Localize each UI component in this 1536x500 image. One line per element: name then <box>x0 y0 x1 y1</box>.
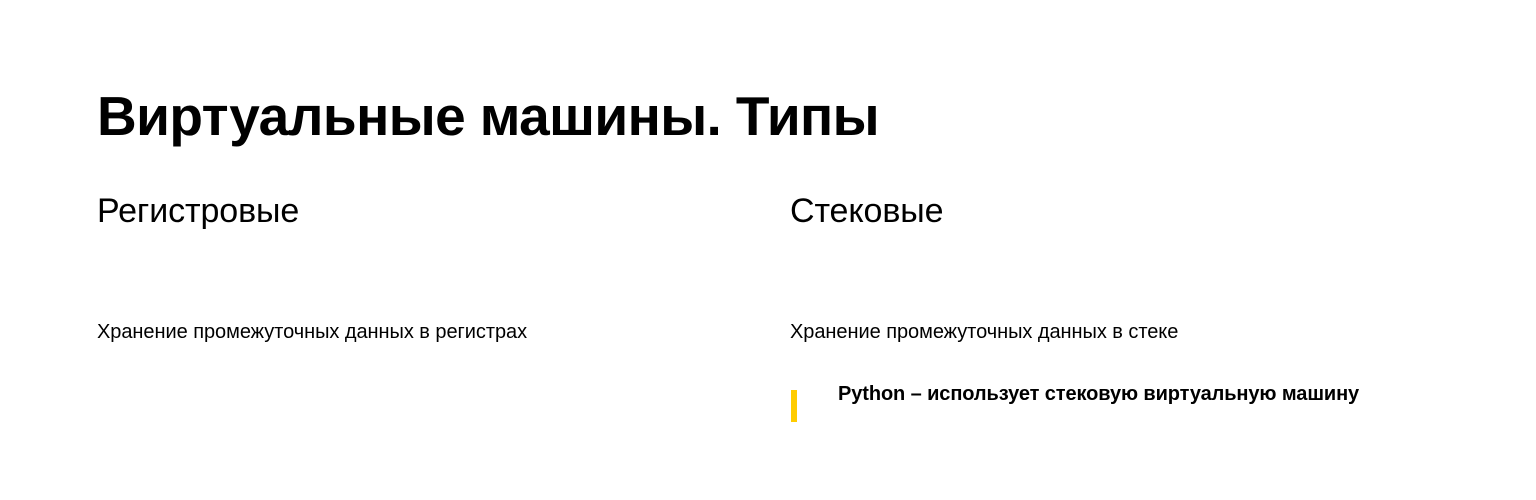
callout-python: Python – использует стековую виртуальную… <box>790 379 1450 409</box>
column-body-registers: Хранение промежуточных данных в регистра… <box>97 318 527 346</box>
column-registers: Регистровые Хранение промежуточных данны… <box>97 190 737 232</box>
accent-bar-icon <box>791 390 797 422</box>
callout-text-python: Python – использует стековую виртуальную… <box>790 379 1450 409</box>
column-heading-stack: Стековые <box>790 190 1450 232</box>
column-stack: Стековые Хранение промежуточных данных в… <box>790 190 1450 232</box>
column-body-stack: Хранение промежуточных данных в стеке <box>790 318 1178 346</box>
column-heading-registers: Регистровые <box>97 190 737 232</box>
columns-container: Регистровые Хранение промежуточных данны… <box>0 0 1536 500</box>
slide: Виртуальные машины. Типы Регистровые Хра… <box>0 0 1536 500</box>
